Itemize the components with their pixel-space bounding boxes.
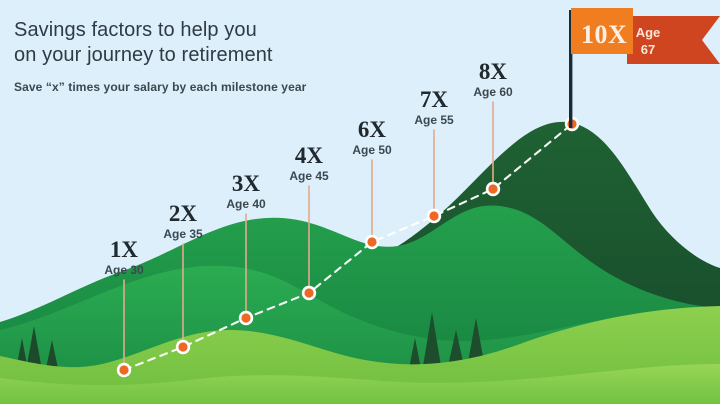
milestone-multiplier: 4X [289,144,328,168]
milestone-multiplier: 2X [163,202,202,226]
page-subtitle: Save “x” times your salary by each miles… [14,80,306,94]
milestone-multiplier: 6X [352,118,391,142]
page-title-line2: on your journey to retirement [14,43,273,68]
milestone-label-age-30: 1XAge 30 [104,238,143,277]
milestone-age: Age 50 [352,143,391,157]
milestone-label-age-60: 8XAge 60 [473,60,512,99]
milestone-dot[interactable] [367,237,376,246]
milestone-dot[interactable] [304,288,313,297]
page-title-line1: Savings factors to help you [14,18,273,43]
milestone-age: Age 55 [414,113,453,127]
milestone-age: Age 45 [289,169,328,183]
milestone-label-age-35: 2XAge 35 [163,202,202,241]
milestone-label-age-50: 6XAge 50 [352,118,391,157]
milestone-multiplier: 8X [473,60,512,84]
milestone-dot[interactable] [119,365,128,374]
milestone-dot[interactable] [488,184,497,193]
milestone-multiplier: 3X [226,172,265,196]
flag-age-number: 67 [636,41,661,58]
flag-age-label: Age 67 [636,24,661,58]
flag-age-word: Age [636,24,661,41]
infographic-canvas: Savings factors to help you on your jour… [0,0,720,404]
milestone-multiplier: 7X [414,88,453,112]
milestone-age: Age 35 [163,227,202,241]
milestone-label-age-55: 7XAge 55 [414,88,453,127]
milestone-age: Age 60 [473,85,512,99]
milestone-multiplier: 1X [104,238,143,262]
milestone-dot[interactable] [178,342,187,351]
milestone-dot[interactable] [241,313,250,322]
milestone-label-age-40: 3XAge 40 [226,172,265,211]
milestone-label-age-45: 4XAge 45 [289,144,328,183]
milestone-age: Age 40 [226,197,265,211]
milestone-age: Age 30 [104,263,143,277]
milestone-dot[interactable] [429,211,438,220]
flag-multiplier-label: 10X [581,20,627,50]
page-title: Savings factors to help you on your jour… [14,18,273,68]
